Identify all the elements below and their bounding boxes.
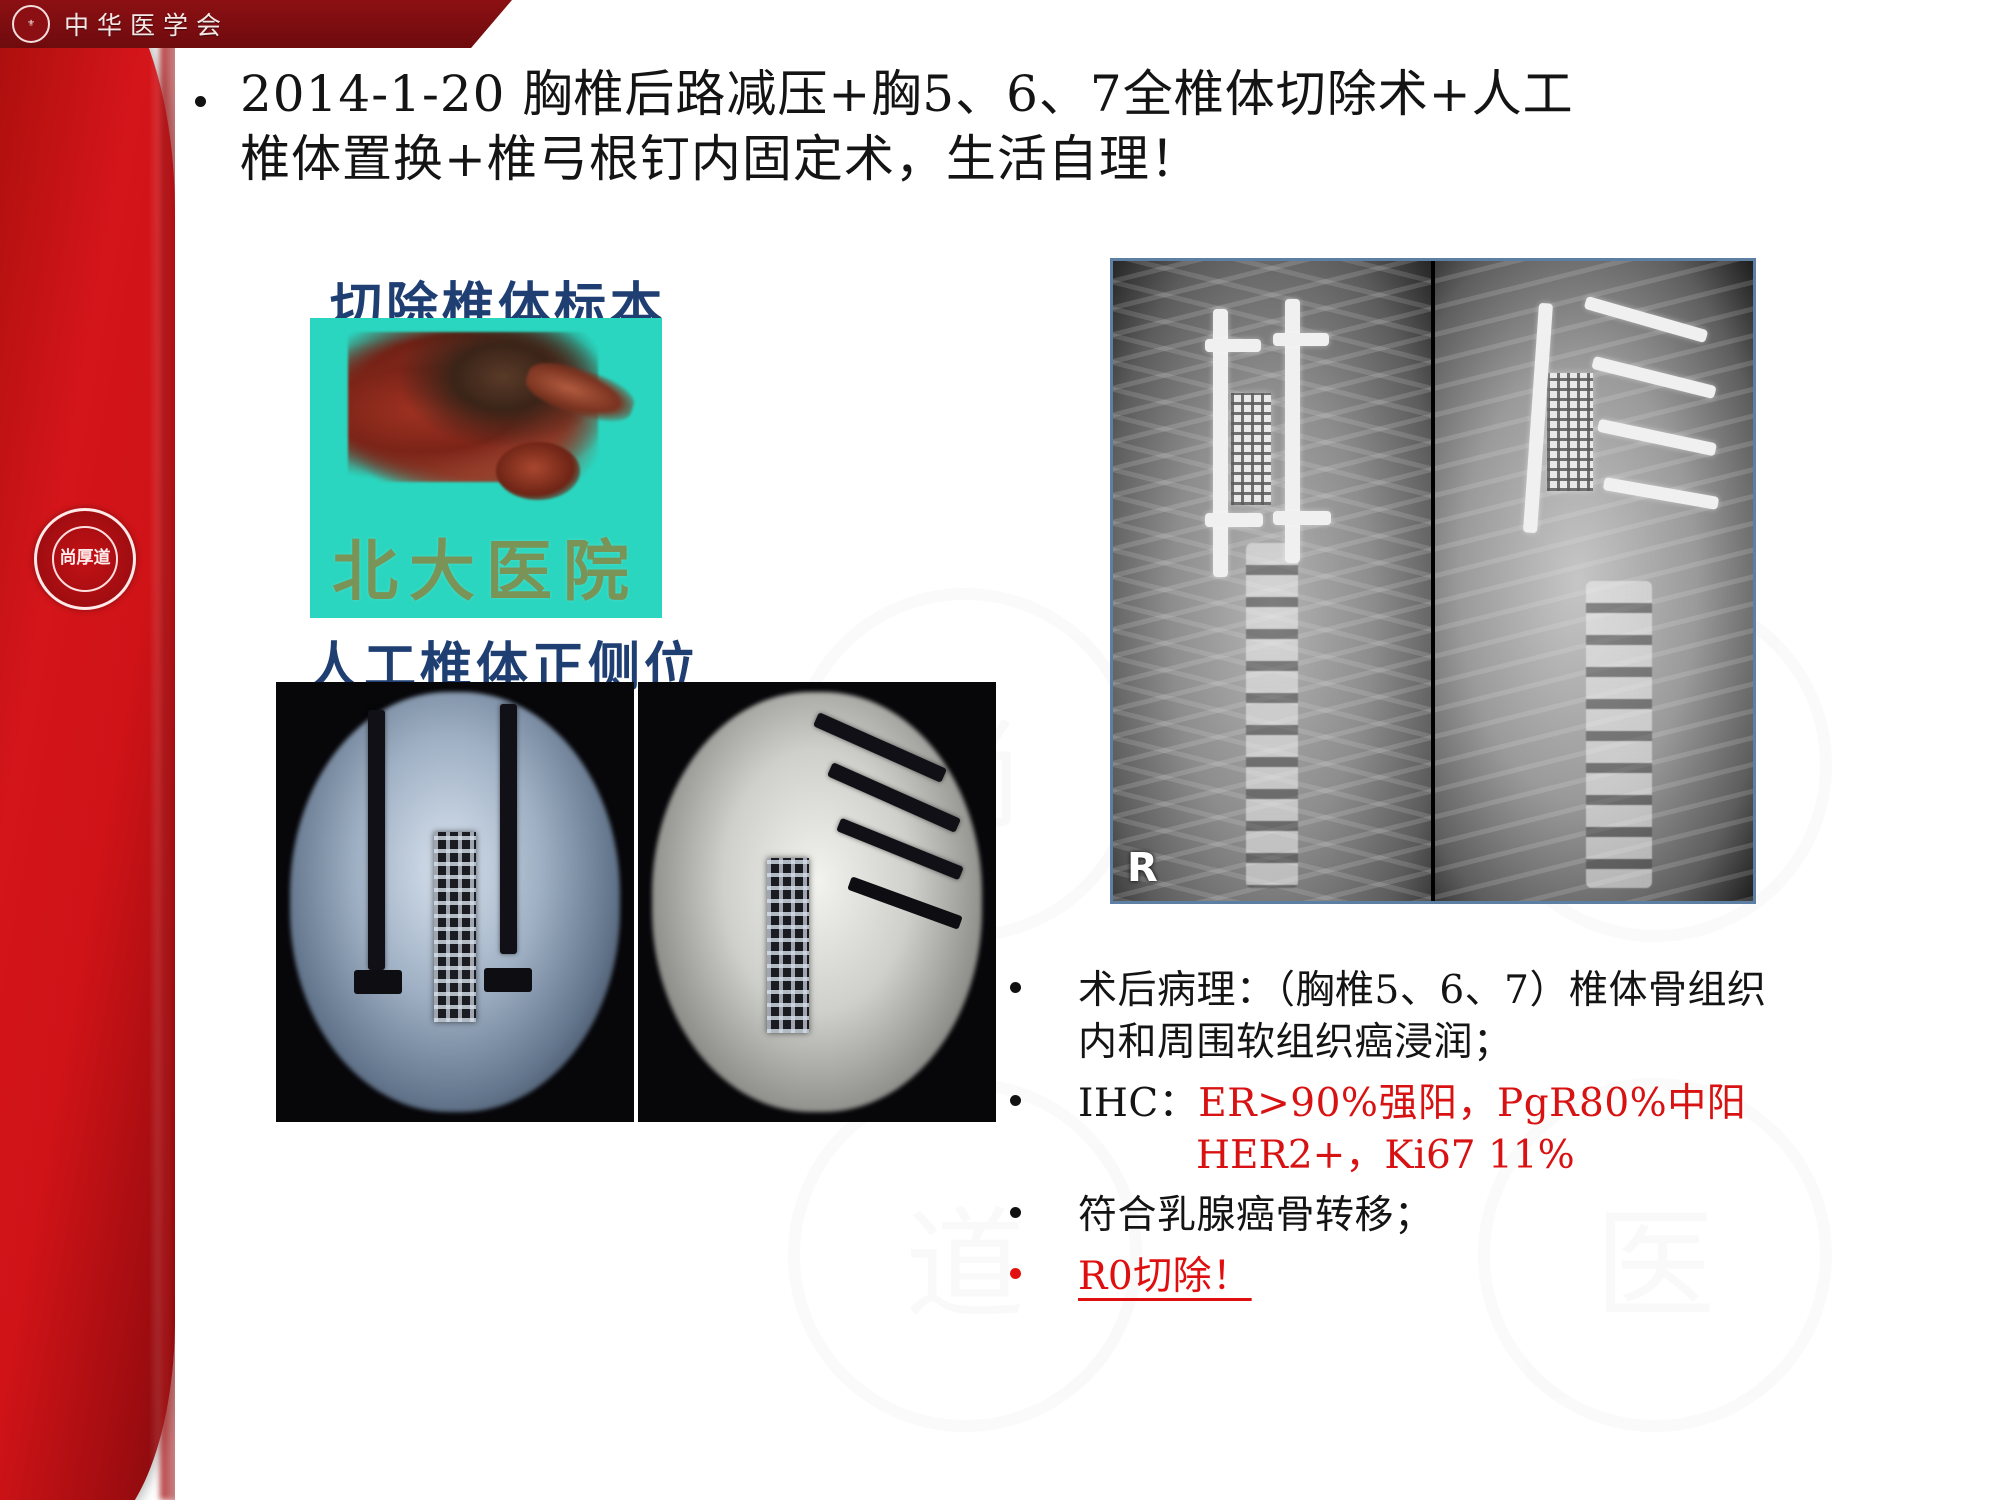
ihc-value-line-2: HER2+，Ki67 11% bbox=[1078, 1130, 1970, 1182]
bullet-dot-icon bbox=[1010, 1268, 1021, 1279]
pathology-line-2: 内和周围软组织癌浸润； bbox=[1078, 1017, 1970, 1069]
conclusion-text: 符合乳腺癌骨转移； bbox=[1078, 1190, 1970, 1242]
pedicle-screw bbox=[1273, 333, 1329, 346]
bullet-r0-resection: R0切除！ bbox=[1010, 1251, 1970, 1303]
sidebar-red-shape bbox=[0, 0, 175, 1500]
fluoro-field bbox=[652, 692, 982, 1112]
postop-xray: R bbox=[1110, 258, 1756, 904]
artificial-vertebra-cage bbox=[1547, 373, 1593, 491]
spine-column bbox=[1246, 543, 1298, 889]
fluoroscopy-ap-view bbox=[276, 682, 634, 1122]
artificial-vertebra-cage bbox=[1231, 393, 1271, 505]
slide-title: 2014-1-20 胸椎后路减压+胸5、6、7全椎体切除术+人工 椎体置换+椎弓… bbox=[240, 62, 1550, 192]
pedicle-rod bbox=[368, 710, 385, 970]
specimen-nodule bbox=[496, 442, 580, 500]
bullet-ihc: IHC：ER>90%强阳，PgR80%中阳 HER2+，Ki67 11% bbox=[1010, 1078, 1970, 1182]
pedicle-rod bbox=[500, 704, 517, 954]
brand-sidebar bbox=[0, 0, 175, 1500]
fluoroscopy-images bbox=[276, 682, 996, 1122]
xray-ap-view: R bbox=[1113, 261, 1431, 901]
cma-title: 中华医学会 bbox=[64, 6, 229, 42]
pathology-line-1: 术后病理：（胸椎5、6、7）椎体骨组织 bbox=[1078, 965, 1970, 1017]
fluoroscopy-lateral-view bbox=[638, 682, 996, 1122]
artificial-vertebra-cage bbox=[434, 832, 476, 1022]
spine-column bbox=[1586, 581, 1652, 888]
bullet-conclusion: 符合乳腺癌骨转移； bbox=[1010, 1190, 1970, 1242]
r0-resection-text: R0切除！ bbox=[1078, 1254, 1252, 1299]
pedicle-screw bbox=[1273, 511, 1331, 525]
xray-side-marker: R bbox=[1127, 845, 1158, 891]
bullet-dot-icon bbox=[1010, 982, 1021, 993]
cma-emblem-icon: ⚜ bbox=[12, 5, 50, 43]
artificial-vertebra-cage bbox=[767, 858, 809, 1033]
specimen-watermark-text: 北大医院 bbox=[310, 518, 662, 614]
cma-top-banner: ⚜ 中华医学会 bbox=[0, 0, 512, 48]
ihc-label: IHC： bbox=[1078, 1081, 1198, 1126]
xray-lateral-view bbox=[1431, 261, 1753, 901]
findings-list: 术后病理：（胸椎5、6、7）椎体骨组织 内和周围软组织癌浸润； IHC：ER>9… bbox=[1010, 965, 1970, 1312]
seal-inner-text: 尚厚道 bbox=[52, 526, 118, 592]
bullet-dot-icon bbox=[1010, 1207, 1021, 1218]
sidebar-edge-shade bbox=[160, 0, 175, 1500]
bullet-pathology: 术后病理：（胸椎5、6、7）椎体骨组织 内和周围软组织癌浸润； bbox=[1010, 965, 1970, 1069]
pku-first-hospital-seal: 尚厚道 bbox=[34, 508, 136, 610]
title-line-1: 2014-1-20 胸椎后路减压+胸5、6、7全椎体切除术+人工 bbox=[240, 62, 1550, 127]
pedicle-screw bbox=[1205, 339, 1261, 352]
ihc-value-line-1: ER>90%强阳，PgR80%中阳 bbox=[1198, 1081, 1746, 1126]
pedicle-screw bbox=[484, 968, 532, 992]
title-line-2: 椎体置换+椎弓根钉内固定术，生活自理！ bbox=[240, 127, 1550, 192]
bullet-dot-icon bbox=[1010, 1095, 1021, 1106]
specimen-photo: 北大医院 bbox=[310, 318, 662, 618]
title-bullet-icon bbox=[195, 96, 206, 107]
pedicle-screw bbox=[1205, 513, 1263, 527]
pedicle-screw bbox=[354, 970, 402, 994]
